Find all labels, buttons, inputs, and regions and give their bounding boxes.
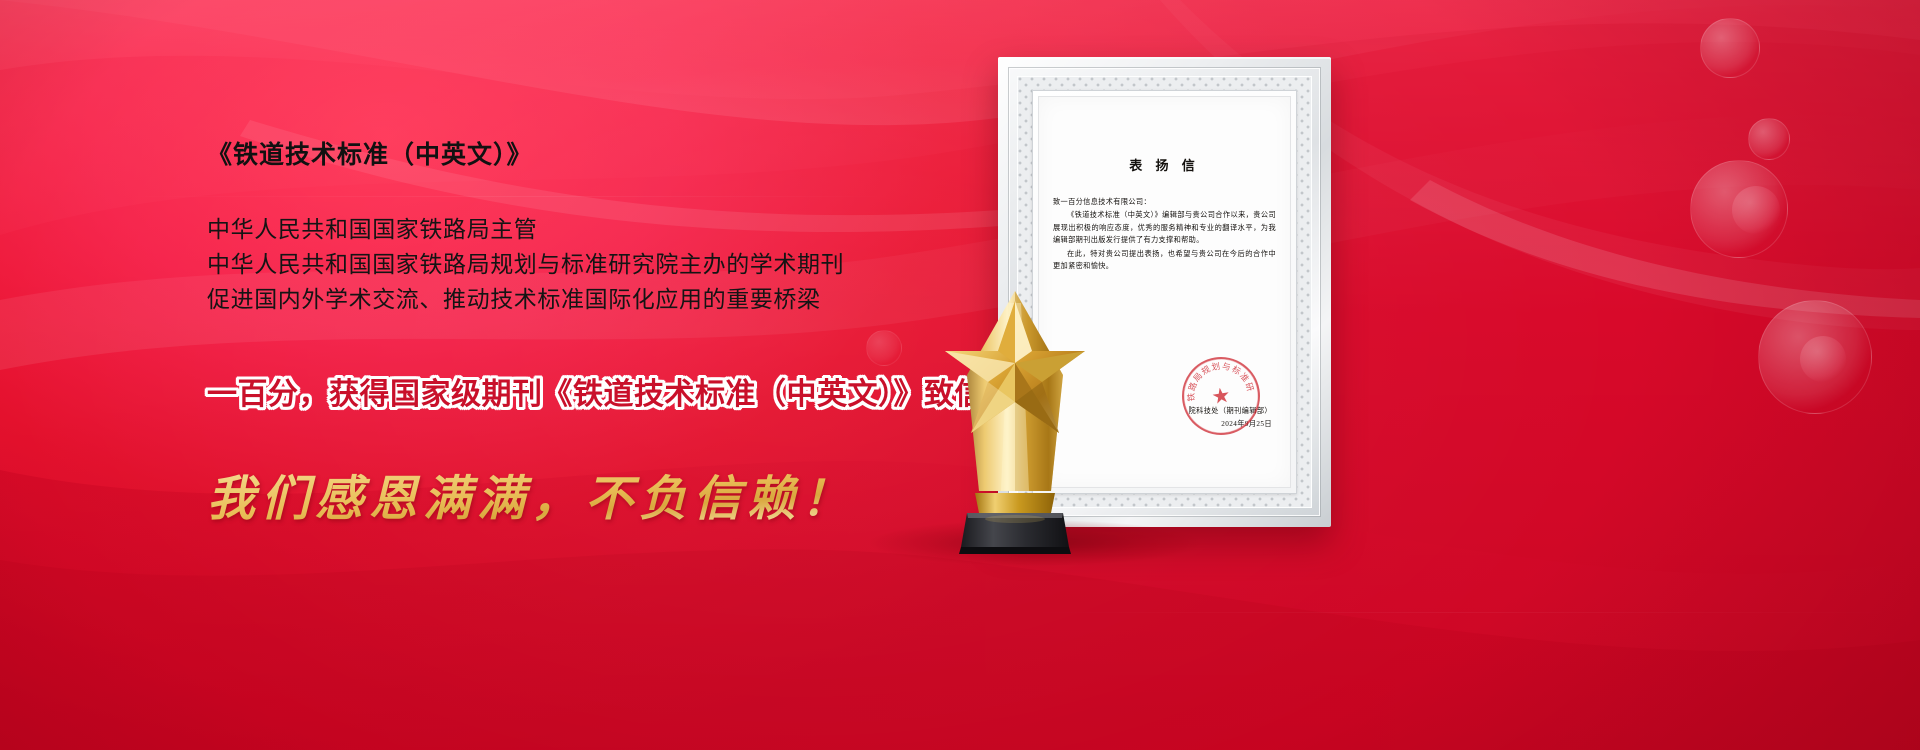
banner-stage: 《铁道技术标准（中英文）》 中华人民共和国国家铁路局主管 中华人民共和国国家铁路… bbox=[0, 0, 1920, 750]
letter-title: 表 扬 信 bbox=[1039, 155, 1290, 174]
bokeh-circle bbox=[1800, 336, 1846, 382]
gold-star-trophy bbox=[905, 255, 1125, 555]
letter-paragraph: 《铁道技术标准（中英文）》编辑部与贵公司合作以来，贵公司展现出积极的响应态度，优… bbox=[1053, 209, 1276, 246]
glow-line bbox=[1020, 612, 1900, 613]
red-official-seal: 国家铁路局规划与标准研究院 bbox=[1176, 351, 1265, 440]
journal-line-2: 中华人民共和国国家铁路局规划与标准研究院主办的学术期刊 bbox=[207, 247, 1027, 282]
bokeh-circle bbox=[1700, 18, 1760, 78]
letter-paragraph: 致一百分信息技术有限公司： bbox=[1053, 196, 1276, 208]
award-headline: 一百分，获得国家级期刊《铁道技术标准（中英文）》致信肯定! bbox=[207, 369, 1027, 413]
left-text-block: 《铁道技术标准（中英文）》 中华人民共和国国家铁路局主管 中华人民共和国国家铁路… bbox=[207, 140, 1027, 529]
journal-title: 《铁道技术标准（中英文）》 bbox=[207, 140, 1027, 170]
svg-text:国家铁路局规划与标准研究院: 国家铁路局规划与标准研究院 bbox=[1179, 354, 1256, 404]
journal-line-1: 中华人民共和国国家铁路局主管 bbox=[207, 212, 1027, 247]
bokeh-circle bbox=[1748, 118, 1790, 160]
gratitude-calligraphy: 我们感恩满满，不负信赖！ bbox=[207, 459, 1027, 529]
journal-line-3: 促进国内外学术交流、推动技术标准国际化应用的重要桥梁 bbox=[207, 282, 1027, 317]
bokeh-circle bbox=[1732, 186, 1780, 234]
